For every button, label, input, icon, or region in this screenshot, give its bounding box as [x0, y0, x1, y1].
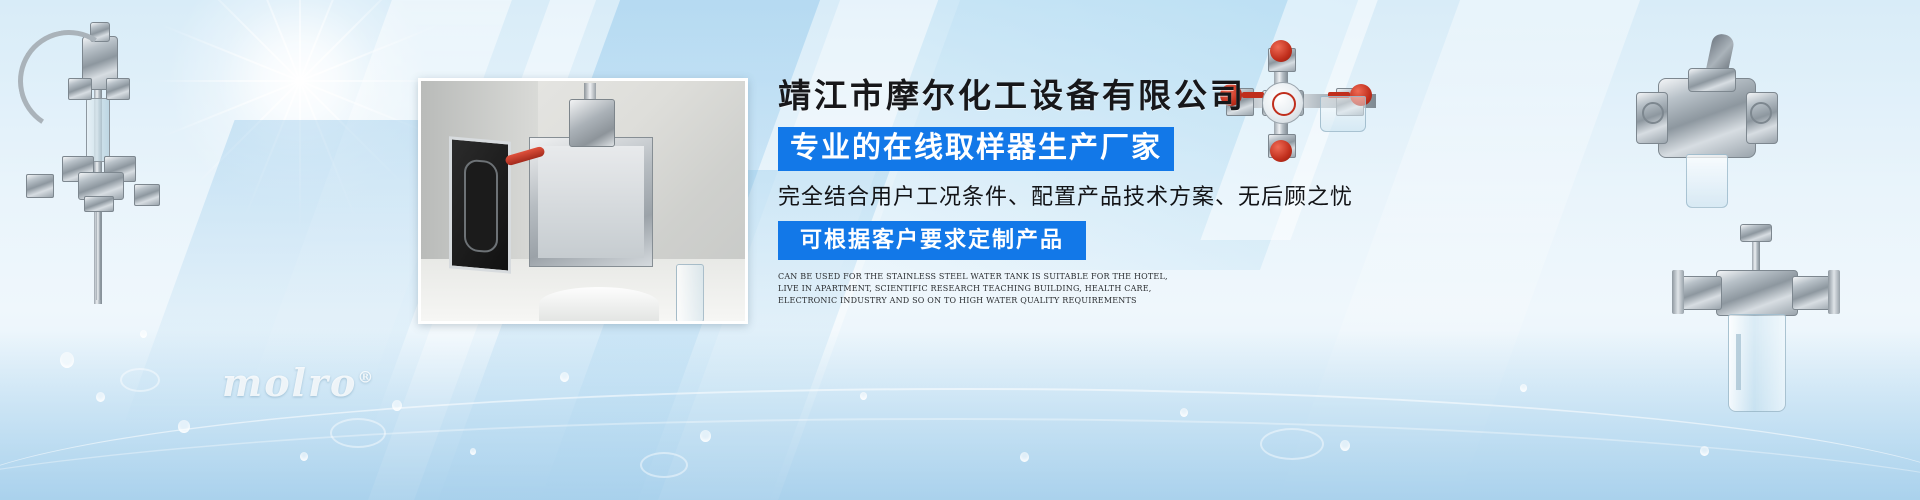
custom-product-box: 可根据客户要求定制产品 [778, 221, 1086, 260]
water-wave-overlay [0, 330, 1920, 500]
registered-mark-icon: ® [357, 367, 375, 386]
description-line: 完全结合用户工况条件、配置产品技术方案、无后顾之忧 [778, 182, 1418, 212]
brand-watermark: molro® [222, 360, 375, 405]
tagline-highlight-bar: 专业的在线取样器生产厂家 [778, 127, 1174, 171]
promo-banner: 靖江市摩尔化工设备有限公司 专业的在线取样器生产厂家 完全结合用户工况条件、配置… [0, 0, 1920, 500]
tagline-highlight-text: 专业的在线取样器生产厂家 [790, 132, 1162, 164]
banner-text-block: 靖江市摩尔化工设备有限公司 专业的在线取样器生产厂家 完全结合用户工况条件、配置… [778, 74, 1418, 307]
product-photo [418, 78, 748, 324]
custom-product-text: 可根据客户要求定制产品 [800, 227, 1064, 253]
watermark-text: molro [222, 360, 357, 405]
valve-body-image [1630, 30, 1780, 230]
left-equipment-image [8, 14, 188, 304]
english-description: CAN BE USED FOR THE STAINLESS STEEL WATE… [778, 271, 1178, 307]
company-name: 靖江市摩尔化工设备有限公司 [778, 74, 1418, 118]
sampling-valve-image [1670, 230, 1840, 420]
